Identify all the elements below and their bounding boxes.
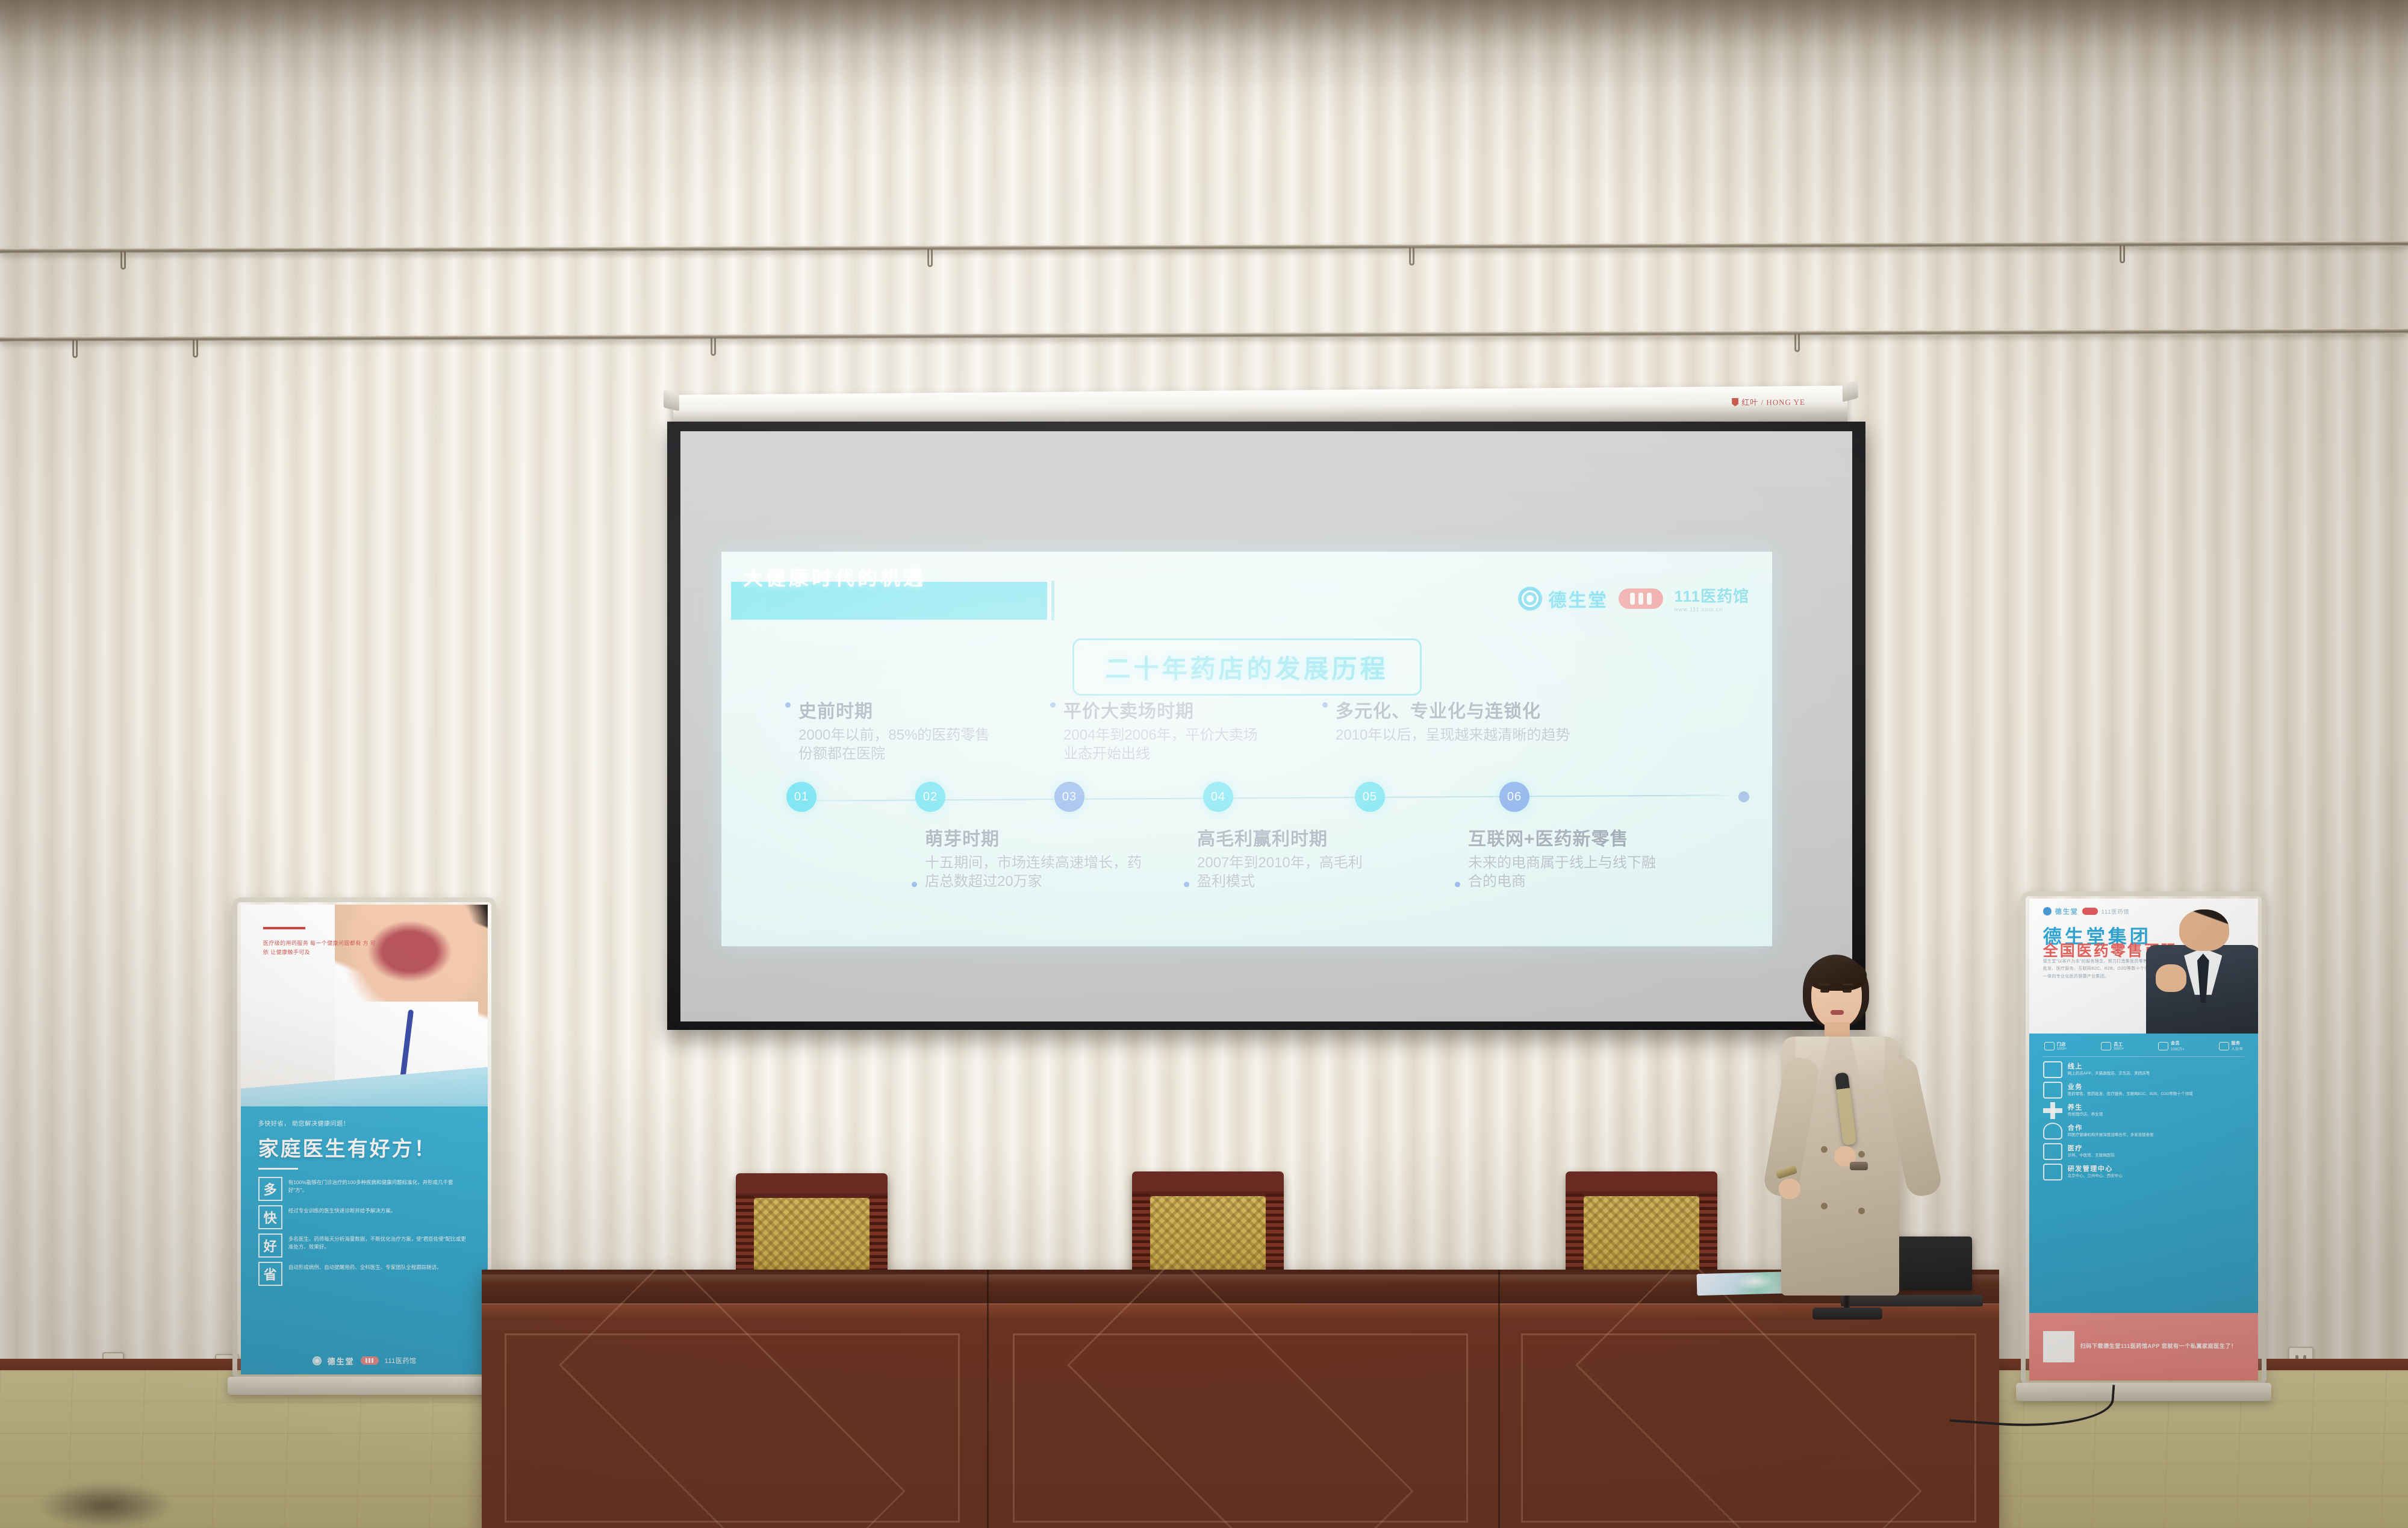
feature-row-duo: 多 有100%能够在门诊治疗的100多种疾病和健康问题标准化，并形成几千套好"方… <box>258 1177 471 1201</box>
slide-main-title: 二十年药店的发展历程 <box>1072 638 1421 696</box>
housing-end-right <box>1843 380 1858 402</box>
slide-header-tick <box>1051 581 1054 620</box>
stat-employees: 员工5000+ <box>2101 1040 2124 1052</box>
list-item-business: 业务医药零售、医药批发、医疗服务、互联网B2C、B2B、O2O等数十个领域 <box>2043 1082 2244 1099</box>
thumbs-up-icon <box>2156 964 2186 992</box>
list-item-medical: 医疗诊所、中医馆、互联网医院 <box>2043 1143 2244 1160</box>
partner-pill-icon <box>361 1356 379 1365</box>
floor-debris <box>36 1482 175 1528</box>
banner-top-logos: 德生堂 111医药馆 <box>2043 906 2130 916</box>
stats-row: 门店1000+ 员工5000+ 会员1000万+ 服务人次/年 <box>2043 1040 2244 1057</box>
presenter-hand-left <box>1779 1179 1800 1199</box>
timeline-dot-05[interactable]: 05 <box>1355 782 1385 812</box>
banner-rule <box>258 1168 298 1170</box>
list-item-wellness: 养生传统理疗店、养生馆 <box>2043 1102 2244 1119</box>
brand-emblem-icon <box>1518 587 1542 611</box>
brand-logo-dshengtang: 德生堂 <box>1518 585 1608 612</box>
online-store-icon <box>2043 1061 2062 1078</box>
timeline-end-dot <box>1738 791 1749 802</box>
timeline-item-04: 高毛利赢利时期 2007年到2010年，高毛利盈利模式 <box>1197 824 1366 891</box>
screen-border: 大健康时代的机遇 德生堂 111医药馆 www.111.com.cn <box>667 422 1865 1030</box>
members-icon <box>2158 1042 2168 1050</box>
bullet-icon <box>1322 702 1328 708</box>
banner-footer-logos: 德生堂 111医药馆 <box>241 1355 488 1367</box>
leaf-icon <box>1732 398 1738 407</box>
bullet-icon <box>1184 882 1189 887</box>
heart-icon <box>2219 1042 2229 1050</box>
service-list: 线上网上药店APP、天猫旗舰店、京东店、美团店等 业务医药零售、医药批发、医疗服… <box>2043 1061 2244 1180</box>
timeline-item-06: 互联网+医药新零售 未来的电商属于线上与线下融合的电商 <box>1468 824 1667 891</box>
rnd-grid-icon <box>2043 1164 2062 1180</box>
stat-members: 会员1000万+ <box>2158 1040 2185 1052</box>
brand-emblem-icon <box>313 1356 322 1365</box>
standee-base <box>228 1377 501 1395</box>
timeline-dot-02[interactable]: 02 <box>915 782 945 812</box>
feature-row-hao: 好 多名医生、药师每天分析海量数据，不断优化治疗方案，使"君臣佐使"配比或更准处… <box>258 1233 471 1258</box>
presenter-eye-left <box>1820 990 1829 993</box>
store-icon <box>2044 1042 2055 1050</box>
banner-standee-left: 医疗级的用药服务 每一个健康问题都有 方 可依 让健康触手可及 多快好省， 助您… <box>241 905 488 1374</box>
screen-surface: 大健康时代的机遇 德生堂 111医药馆 www.111.com.cn <box>680 431 1852 1021</box>
timeline-dot-06[interactable]: 06 <box>1499 782 1529 812</box>
wristwatch <box>1850 1162 1868 1170</box>
partner-pill-icon <box>2082 908 2098 915</box>
banner-kicker: 多快好省， 助您解决健康问题！ <box>258 1119 471 1129</box>
projector-screen: 红叶 / HONG YE 大健康时代的机遇 德生堂 <box>667 390 1865 1032</box>
timeline-dot-04[interactable]: 04 <box>1203 782 1233 812</box>
housing-brand-logo: 红叶 / HONG YE <box>1732 396 1805 408</box>
housing-end-left <box>664 390 679 411</box>
banner-standee-right: 德生堂 111医药馆 德生堂集团 全国医药零售百强 德生堂"以客户为本"的服务理… <box>2029 899 2258 1380</box>
projected-slide: 大健康时代的机遇 德生堂 111医药馆 www.111.com.cn <box>721 552 1772 946</box>
banner-body: 门店1000+ 员工5000+ 会员1000万+ 服务人次/年 <box>2029 1034 2258 1313</box>
banner-top-area: 德生堂 111医药馆 德生堂集团 全国医药零售百强 德生堂"以客户为本"的服务理… <box>2029 899 2258 1034</box>
microphone-stand-base <box>1812 1308 1882 1320</box>
timeline-dot-01[interactable]: 01 <box>786 782 817 812</box>
qr-code[interactable] <box>2043 1331 2074 1362</box>
banner-red-note: 医疗级的用药服务 每一个健康问题都有 方 可依 让健康触手可及 <box>263 939 377 957</box>
standee-sheet: 德生堂 111医药馆 德生堂集团 全国医药零售百强 德生堂"以客户为本"的服务理… <box>2029 899 2258 1380</box>
executive-portrait <box>2144 904 2258 1034</box>
presenter-fringe <box>1808 959 1867 991</box>
timeline-item-03: 平价大卖场时期 2004年到2006年，平价大卖场业态开始出线 <box>1063 696 1262 763</box>
presenter <box>1776 955 1927 1376</box>
handshake-heart-icon <box>2043 1123 2062 1140</box>
conference-podium-table <box>482 1270 1999 1528</box>
brand-emblem-icon <box>2043 907 2052 915</box>
bullet-icon <box>1050 702 1056 708</box>
partner-pill-icon <box>1619 588 1663 609</box>
banner-feature-list: 多 有100%能够在门诊治疗的100多种疾病和健康问题标准化，并形成几千套好"方… <box>258 1177 471 1286</box>
accent-rule <box>263 927 305 929</box>
hospital-icon <box>2043 1143 2062 1160</box>
slide-header-label: 大健康时代的机遇 <box>743 562 926 591</box>
list-item-rnd: 研发管理中心北京中心、兰州中心、西安中心 <box>2043 1164 2244 1180</box>
employee-icon <box>2101 1042 2111 1050</box>
banner-footer-cta: 扫码下载德生堂111医药馆APP 您就有一个私属家庭医生了！ <box>2029 1313 2258 1380</box>
banner-body: 多快好省， 助您解决健康问题！ 家庭医生有好方！ 多 有100%能够在门诊治疗的… <box>241 1106 488 1374</box>
stat-service: 服务人次/年 <box>2219 1040 2244 1052</box>
bullet-icon <box>785 702 791 708</box>
timeline-item-01: 史前时期 2000年以前，85%的医药零售份额都在医院 <box>798 696 997 763</box>
feature-row-kuai: 快 经过专业训练的医生快速诊断并给予解决方案。 <box>258 1205 471 1229</box>
partner-logo-text: 111医药馆 www.111.com.cn <box>1674 584 1749 613</box>
slide-logo-group: 德生堂 111医药馆 www.111.com.cn <box>1518 584 1749 613</box>
coat-lapel-right <box>1851 1037 1885 1102</box>
bullet-icon <box>1455 882 1460 887</box>
presenter-eye-right <box>1843 990 1852 993</box>
health-cross-icon <box>2043 1102 2062 1119</box>
conference-room-scene: 红叶 / HONG YE 大健康时代的机遇 德生堂 <box>0 0 2408 1528</box>
banner-headline: 家庭医生有好方！ <box>258 1132 471 1162</box>
portrait-head <box>2179 909 2229 951</box>
timeline-item-02: 萌芽时期 十五期间，市场连续高速增长，药店总数超过20万家 <box>925 824 1142 891</box>
bullet-icon <box>912 882 917 887</box>
business-tree-icon <box>2043 1082 2062 1099</box>
stat-stores: 门店1000+ <box>2044 1040 2067 1052</box>
feature-row-sheng: 省 自动形成病例、自动提醒用药、全科医生、专家团队全程跟踪随访。 <box>258 1262 471 1286</box>
list-item-partnership: 合作同医疗健康机构开展深度战略合作，多家连锁参股 <box>2043 1123 2244 1140</box>
list-item-online: 线上网上药店APP、天猫旗舰店、京东店、美团店等 <box>2043 1061 2244 1078</box>
timeline-item-05: 多元化、专业化与连锁化 2010年以后，呈现越来越清晰的趋势 <box>1336 696 1570 745</box>
presenter-mouth <box>1831 1010 1844 1015</box>
ceiling-shadow <box>0 0 2408 90</box>
timeline-dot-03[interactable]: 03 <box>1054 782 1084 812</box>
standee-sheet: 医疗级的用药服务 每一个健康问题都有 方 可依 让健康触手可及 多快好省， 助您… <box>241 905 488 1374</box>
